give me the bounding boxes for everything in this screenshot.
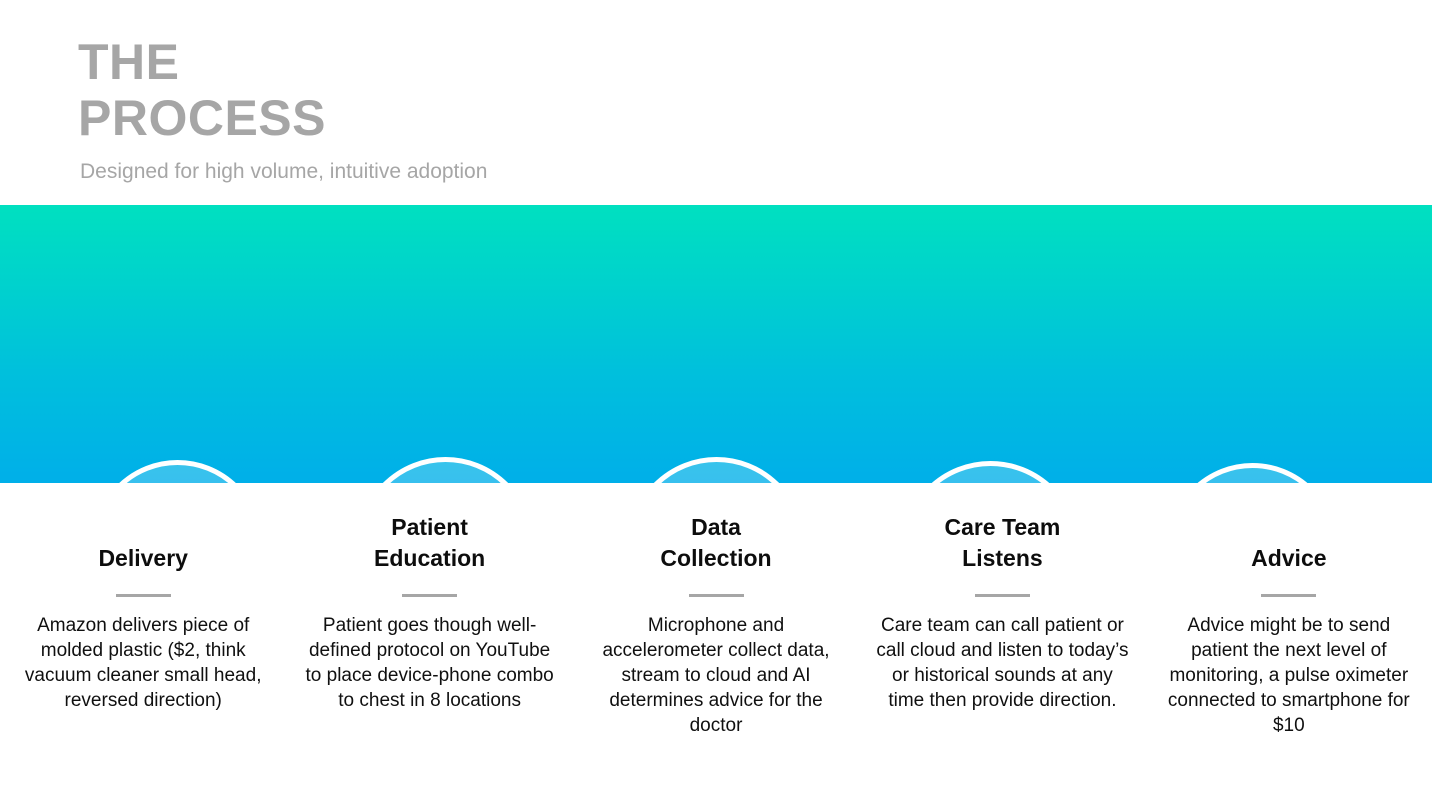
detail-column-delivery: Delivery Amazon delivers piece of molded… (0, 495, 286, 785)
process-flow-diagram: Delivery Patient Education Data Collecti… (0, 205, 1432, 483)
detail-heading-wrap: Advice (1251, 495, 1326, 575)
detail-divider (402, 594, 457, 597)
slide-header: THE PROCESS Designed for high volume, in… (78, 34, 978, 184)
page-subtitle: Designed for high volume, intuitive adop… (80, 160, 978, 184)
detail-column-advice: Advice Advice might be to send patient t… (1146, 495, 1432, 785)
detail-divider (1261, 594, 1316, 597)
detail-body: Patient goes though well-defined protoco… (300, 613, 558, 713)
detail-body: Advice might be to send patient the next… (1160, 613, 1418, 738)
detail-heading-wrap: Patient Education (374, 495, 485, 575)
detail-column-care-team-listens: Care Team Listens Care team can call pat… (859, 495, 1145, 785)
detail-heading-wrap: Data Collection (660, 495, 771, 575)
detail-body: Amazon delivers piece of molded plastic … (14, 613, 272, 713)
detail-body: Care team can call patient or call cloud… (873, 613, 1131, 713)
process-detail-columns: Delivery Amazon delivers piece of molded… (0, 495, 1432, 785)
detail-heading-wrap: Delivery (98, 495, 188, 575)
detail-heading: Data Collection (660, 512, 771, 575)
detail-heading: Care Team Listens (944, 512, 1060, 575)
detail-column-data-collection: Data Collection Microphone and accelerom… (573, 495, 859, 785)
detail-heading: Advice (1251, 543, 1326, 575)
detail-heading-wrap: Care Team Listens (944, 495, 1060, 575)
detail-body: Microphone and accelerometer collect dat… (587, 613, 845, 738)
page-title: THE PROCESS (78, 34, 978, 146)
detail-divider (975, 594, 1030, 597)
detail-heading: Delivery (98, 543, 188, 575)
gradient-band: Delivery Patient Education Data Collecti… (0, 205, 1432, 483)
detail-divider (689, 594, 744, 597)
detail-column-patient-education: Patient Education Patient goes though we… (286, 495, 572, 785)
detail-heading: Patient Education (374, 512, 485, 575)
detail-divider (116, 594, 171, 597)
